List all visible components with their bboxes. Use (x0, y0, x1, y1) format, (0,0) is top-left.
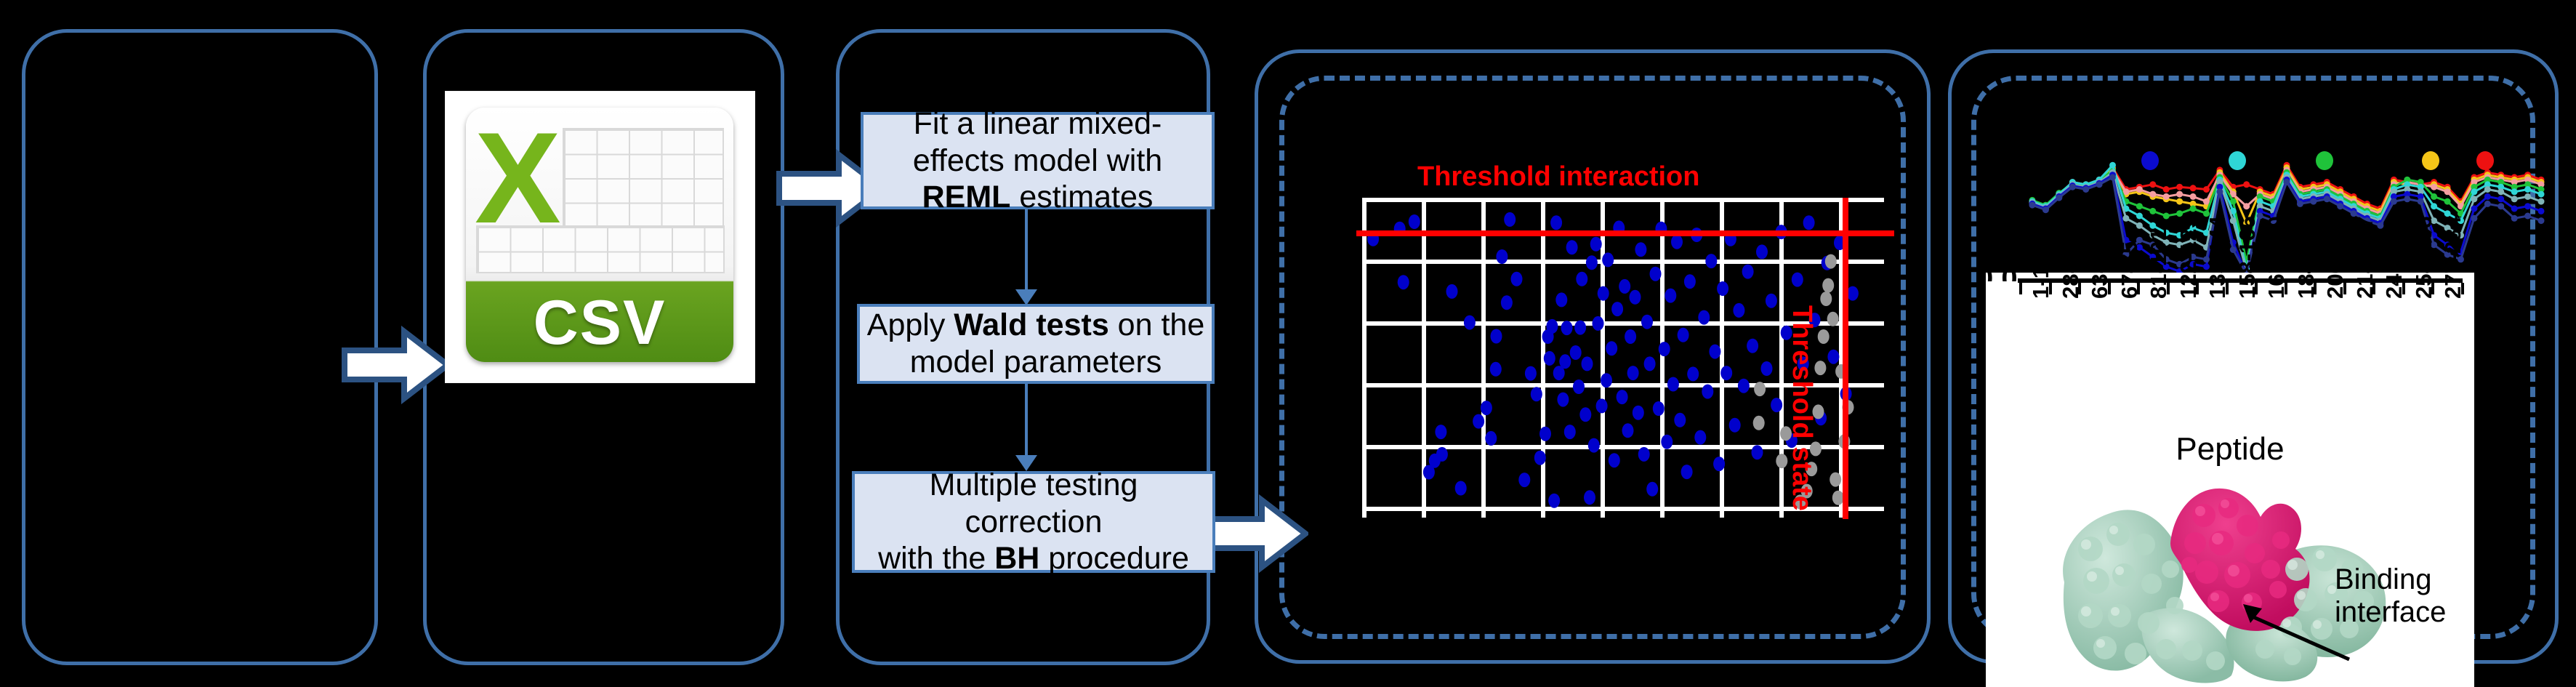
peptide-tick-label: 122-129 (2175, 216, 2202, 299)
step-box-reml-text: Fit a linear mixed-effects model with RE… (869, 105, 1206, 216)
excel-x-letter: X (475, 113, 561, 243)
peptide-tick-label: 158-166 (2234, 216, 2261, 299)
y-axis-partial-tick: 0.0 (1977, 262, 2018, 281)
binding-interface-annotation: Binding interface (2335, 563, 2446, 629)
peptide-tick-label: 184-199 (2293, 216, 2319, 299)
legend-dot-2 (2229, 151, 2246, 170)
peptide-tick-label: 28-44 (2058, 241, 2084, 299)
csv-icon-container: X CSV (446, 92, 754, 382)
step-box-reml[interactable]: Fit a linear mixed-effects model with RE… (861, 112, 1215, 209)
arrow-stats-to-results-icon (1199, 494, 1308, 573)
binding-interface-line-1: Binding (2335, 563, 2446, 596)
legend-dot-1 (2141, 151, 2159, 170)
legend-dot-4 (2422, 151, 2439, 170)
vertical-threshold-line (1843, 198, 1848, 519)
arrow-input-to-csv-icon (342, 326, 451, 404)
step-box-bh-text: Multiple testing correctionwith the BH p… (861, 467, 1207, 577)
csv-label: CSV (466, 287, 733, 359)
step-box-wald[interactable]: Apply Wald tests on the model parameters (857, 304, 1215, 384)
connector-2 (1025, 384, 1028, 461)
peptide-tick-label: 1-15 (2028, 254, 2054, 299)
step-box-wald-text: Apply Wald tests on the model parameters (866, 307, 1206, 380)
threshold-interaction-label: Threshold interaction (1417, 161, 1699, 193)
peptide-tick-label: 135-144 (2205, 216, 2231, 299)
axis-tick (2019, 283, 2022, 294)
legend-dot-5 (2476, 151, 2494, 170)
csv-file-icon: X CSV (466, 108, 733, 362)
peptide-axis-title: Peptide (1986, 431, 2474, 467)
connector-1-arrowhead-icon (1015, 289, 1037, 305)
flowchart-stage: X CSV Fit a linear mixed-effects model w… (0, 0, 2576, 687)
threshold-state-label: Threshold state (1786, 305, 1817, 523)
peptide-tick-label: 218-237 (2352, 216, 2378, 299)
step-box-bh[interactable]: Multiple testing correctionwith the BH p… (852, 471, 1215, 573)
binding-interface-line-2: interface (2335, 596, 2446, 629)
peptide-tick-label: 81-101 (2146, 228, 2172, 299)
peptide-tick-label: 241-257 (2381, 216, 2407, 299)
horizontal-threshold-line (1356, 230, 1894, 236)
peptide-tick-label: 277-284 (2440, 216, 2466, 299)
peptide-tick-label: 67-75 (2117, 241, 2143, 299)
peptide-tick-label: 63-73 (2087, 241, 2113, 299)
legend-dot-3 (2316, 151, 2333, 170)
structure-card: 0.0 1-1528-4463-7367-7581-101122-129135-… (1986, 273, 2474, 687)
peptide-tick-label: 167-180 (2263, 216, 2290, 299)
peptide-tick-label: 258-266 (2411, 216, 2437, 299)
connector-1 (1025, 209, 1028, 294)
peptide-chart-legend (2011, 151, 2556, 173)
input-data-panel (22, 29, 378, 665)
peptide-tick-label: 200-214 (2322, 216, 2348, 299)
